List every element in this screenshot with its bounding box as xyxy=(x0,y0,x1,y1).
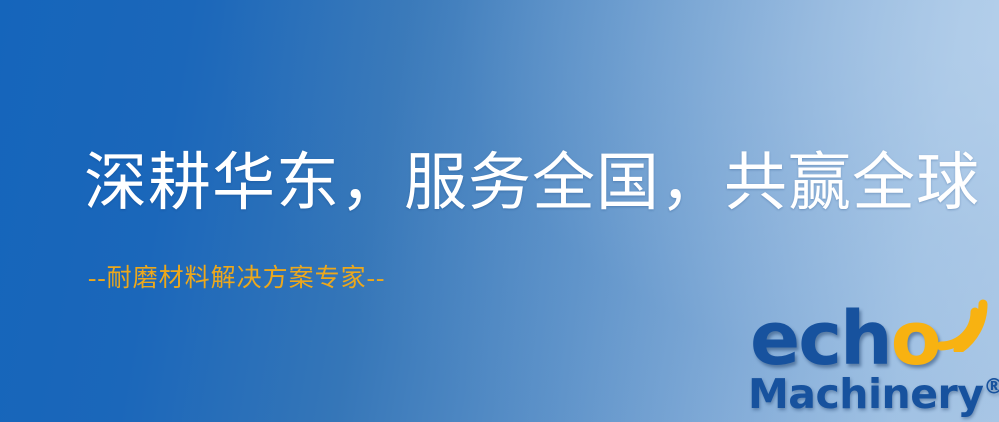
page-subtitle: --耐磨材料解决方案专家-- xyxy=(88,266,385,291)
hero-banner: 深耕华东，服务全国，共赢全球 --耐磨材料解决方案专家-- echo Machi… xyxy=(0,0,999,422)
signal-waves-icon xyxy=(927,296,989,352)
registered-trademark-icon: ® xyxy=(983,374,999,398)
logo-echo-text: echo xyxy=(750,302,940,376)
logo-wordmark: Machinery® xyxy=(748,372,999,416)
page-title: 深耕华东，服务全国，共赢全球 xyxy=(84,152,980,215)
logo-wordmark-text: Machinery xyxy=(748,370,983,418)
logo-mark: echo xyxy=(744,300,999,378)
company-logo[interactable]: echo Machinery® xyxy=(744,300,999,422)
